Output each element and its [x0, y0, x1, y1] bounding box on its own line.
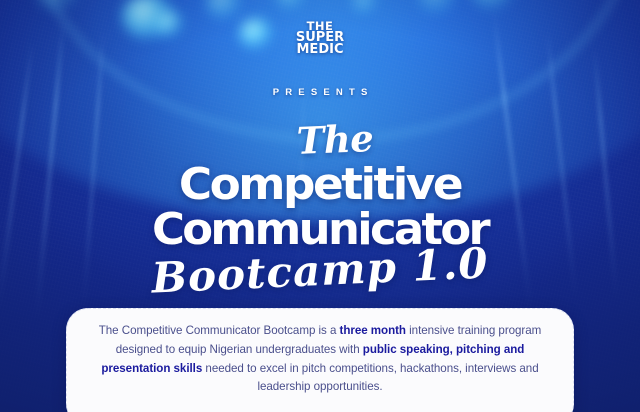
headline-competitive: Competitive [0, 163, 640, 207]
description-part-3: needed to excel in pitch competitions, h… [202, 362, 538, 394]
logo-line-medic: MEDIC [0, 44, 640, 56]
description-bold-1: three month [340, 324, 406, 337]
description-panel: The Competitive Communicator Bootcamp is… [66, 308, 574, 412]
description-text: The Competitive Communicator Bootcamp is… [93, 322, 547, 397]
promotional-poster: THE SUPER MEDIC PRESENTS The Competitive… [0, 0, 640, 412]
description-part-1: The Competitive Communicator Bootcamp is… [99, 324, 340, 337]
brand-logo: THE SUPER MEDIC [0, 21, 640, 55]
presents-label: PRESENTS [0, 87, 640, 98]
headline-block: The Competitive Communicator Bootcamp 1.… [0, 118, 640, 298]
